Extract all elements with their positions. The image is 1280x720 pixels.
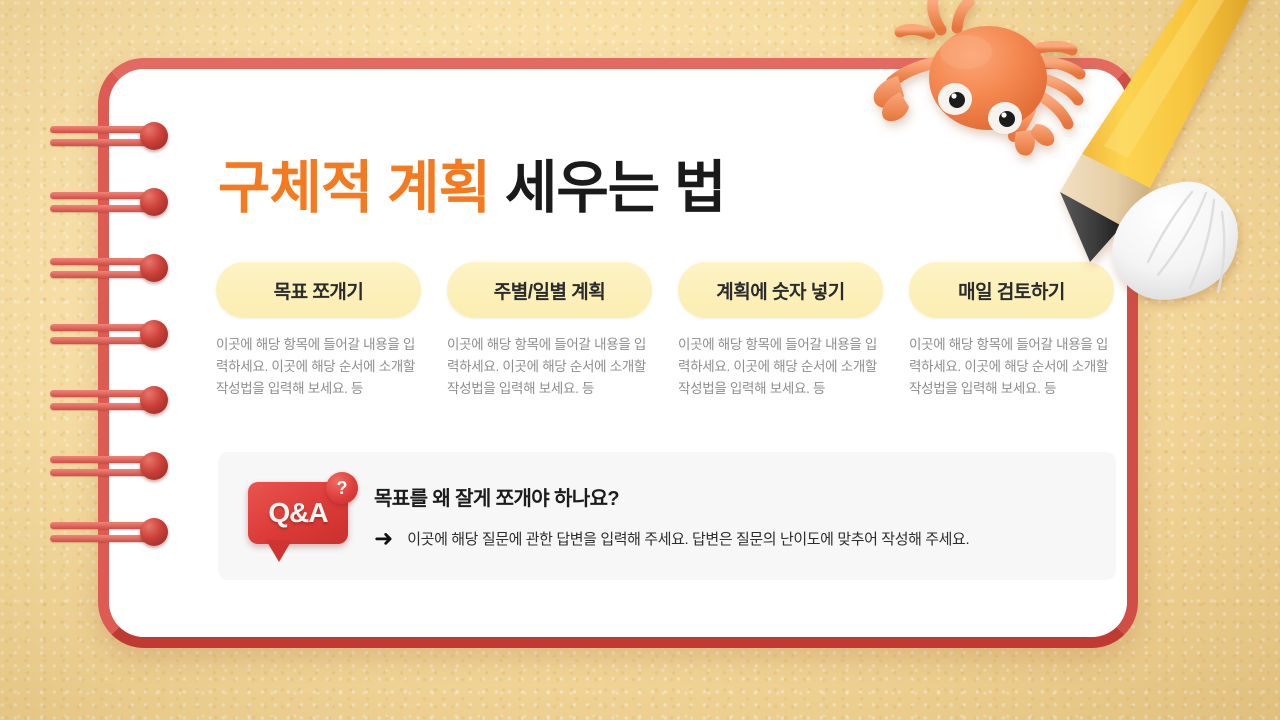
spiral-ring-ball: [140, 188, 168, 216]
spiral-ring-ball: [140, 254, 168, 282]
qa-badge-icon: Q&A ?: [236, 466, 362, 566]
spiral-ring-bar-top: [50, 192, 148, 199]
spiral-ring-bar-bottom: [50, 469, 148, 476]
spiral-ring: [46, 186, 170, 220]
column-pill-2[interactable]: 주별/일별 계획: [447, 262, 652, 318]
spiral-ring-bar-bottom: [50, 337, 148, 344]
spiral-ring-bar-top: [50, 456, 148, 463]
question-mark-icon: ?: [326, 472, 358, 504]
qa-answer-row: ➜ 이곳에 해당 질문에 관한 답변을 입력해 주세요. 답변은 질문의 난이도…: [374, 527, 969, 550]
title-highlight: 구체적 계획: [218, 156, 490, 220]
spiral-ring-bar-bottom: [50, 535, 148, 542]
spiral-ring-bar-top: [50, 324, 148, 331]
spiral-ring-bar-bottom: [50, 205, 148, 212]
title-rest: 세우는 법: [490, 156, 725, 220]
spiral-ring: [46, 252, 170, 286]
column-body-1: 이곳에 해당 항목에 들어갈 내용을 입력하세요. 이곳에 해당 순서에 소개할…: [216, 334, 421, 400]
content-column-3: 계획에 숫자 넣기 이곳에 해당 항목에 들어갈 내용을 입력하세요. 이곳에 …: [678, 262, 883, 400]
arrow-right-icon: ➜: [374, 527, 393, 550]
spiral-ring-bar-top: [50, 126, 148, 133]
qa-question: 목표를 왜 잘게 쪼개야 하나요?: [374, 482, 969, 511]
spiral-ring-ball: [140, 320, 168, 348]
content-column-4: 매일 검토하기 이곳에 해당 항목에 들어갈 내용을 입력하세요. 이곳에 해당…: [909, 262, 1114, 400]
spiral-ring-ball: [140, 452, 168, 480]
spiral-ring-bar-bottom: [50, 271, 148, 278]
spiral-binding: [46, 120, 186, 590]
qa-answer: 이곳에 해당 질문에 관한 답변을 입력해 주세요. 답변은 질문의 난이도에 …: [407, 528, 969, 549]
column-pill-4[interactable]: 매일 검토하기: [909, 262, 1114, 318]
column-body-4: 이곳에 해당 항목에 들어갈 내용을 입력하세요. 이곳에 해당 순서에 소개할…: [909, 334, 1114, 400]
column-pill-1[interactable]: 목표 쪼개기: [216, 262, 421, 318]
spiral-ring-ball: [140, 386, 168, 414]
spiral-ring-bar-top: [50, 390, 148, 397]
spiral-ring: [46, 516, 170, 550]
qa-panel: Q&A ? 목표를 왜 잘게 쪼개야 하나요? ➜ 이곳에 해당 질문에 관한 …: [218, 452, 1116, 580]
column-body-3: 이곳에 해당 항목에 들어갈 내용을 입력하세요. 이곳에 해당 순서에 소개할…: [678, 334, 883, 400]
qa-content: 목표를 왜 잘게 쪼개야 하나요? ➜ 이곳에 해당 질문에 관한 답변을 입력…: [374, 482, 969, 550]
spiral-ring-bar-bottom: [50, 403, 148, 410]
spiral-ring: [46, 450, 170, 484]
spiral-ring: [46, 318, 170, 352]
spiral-ring-bar-top: [50, 258, 148, 265]
spiral-ring-ball: [140, 122, 168, 150]
content-column-2: 주별/일별 계획 이곳에 해당 항목에 들어갈 내용을 입력하세요. 이곳에 해…: [447, 262, 652, 400]
content-columns: 목표 쪼개기 이곳에 해당 항목에 들어갈 내용을 입력하세요. 이곳에 해당 …: [216, 262, 1124, 400]
page-title: 구체적 계획 세우는 법: [218, 142, 725, 224]
spiral-ring-ball: [140, 518, 168, 546]
spiral-ring-bar-bottom: [50, 139, 148, 146]
spiral-ring: [46, 384, 170, 418]
column-pill-3[interactable]: 계획에 숫자 넣기: [678, 262, 883, 318]
column-body-2: 이곳에 해당 항목에 들어갈 내용을 입력하세요. 이곳에 해당 순서에 소개할…: [447, 334, 652, 400]
spiral-ring: [46, 120, 170, 154]
content-column-1: 목표 쪼개기 이곳에 해당 항목에 들어갈 내용을 입력하세요. 이곳에 해당 …: [216, 262, 421, 400]
spiral-ring-bar-top: [50, 522, 148, 529]
